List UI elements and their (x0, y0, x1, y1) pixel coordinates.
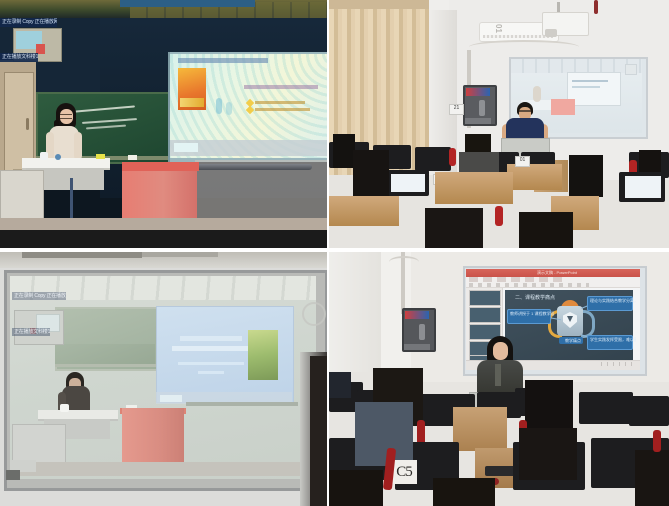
classroom-playback-scene: 正在录制 Copy 正在播放网... 正在播放文科楼106 (0, 0, 327, 248)
control-panel-base (465, 118, 491, 124)
student-seated-foreground (519, 212, 573, 250)
slide-taskbar-item (160, 395, 182, 402)
photo-panel-bottom-right[interactable]: 演示文稿 - PowerPoint 二、课程教学痛点 教师讲授于 1 课程教学设… (329, 252, 669, 506)
slide-figure (216, 98, 222, 114)
red-podium-top (122, 162, 199, 171)
student-seated (333, 134, 355, 168)
student-seated (519, 428, 577, 480)
slide-bullet-text (255, 101, 305, 104)
station-number-label: 21 (449, 104, 464, 115)
control-panel-display (405, 311, 429, 319)
student-seated (329, 372, 351, 398)
slide-title-text: 二、课程教学痛点 (515, 295, 555, 302)
door-knob-icon (26, 118, 29, 130)
student-seated-foreground (329, 470, 383, 506)
remote-feed-slide-line (572, 86, 600, 88)
remote-feed-slide-line (572, 80, 608, 82)
desk-item-cup (40, 152, 48, 160)
wall-outlet-icon (6, 470, 20, 480)
slide-figure (226, 102, 232, 115)
projector-lens-icon (545, 29, 557, 37)
wall-rail (196, 164, 312, 170)
glasses-icon (60, 114, 72, 119)
slide-callout-box: 学生实践发挥受限，难以形成持久应用能力 (587, 335, 633, 350)
wall-clock-icon (302, 302, 326, 326)
callout-text: 理论与实践结合教学分离，教学在场效果不佳 (588, 297, 636, 304)
remote-feed-icon (625, 64, 637, 75)
lab-monitor-screen (391, 174, 425, 192)
desk-item-book (96, 154, 105, 159)
headphone-hanger-icon (495, 206, 503, 226)
ceiling-pipe (594, 0, 598, 14)
remote-feed-screen (567, 72, 621, 106)
student-seated (355, 402, 413, 466)
center-badge-text: 教学痛点 (559, 337, 587, 344)
slide-thumbnail[interactable] (469, 290, 501, 306)
lectern-leg (70, 178, 73, 220)
wall-cable (469, 40, 579, 54)
chalk-rail (55, 364, 157, 367)
callout-text: 学生实践发挥受限，难以形成持久应用能力 (588, 336, 636, 343)
lab-presentation-scene: 演示文稿 - PowerPoint 二、课程教学痛点 教师讲授于 1 课程教学设… (329, 252, 669, 506)
student-seated (635, 450, 669, 506)
recording-status-label-bottom: 正在播放文科楼106 (0, 53, 38, 62)
glasses-icon (519, 110, 531, 112)
wall-rail (186, 402, 298, 406)
desk-item-bottle (55, 154, 61, 160)
presenter-face (493, 342, 508, 360)
photo-panel-top-left[interactable]: 正在录制 Copy 正在播放网... 正在播放文科楼106 (0, 0, 327, 248)
right-wall-shadow (310, 356, 327, 506)
student-seated (353, 150, 389, 200)
slide-title-text (178, 58, 268, 63)
slide-taskbar-item (174, 143, 198, 152)
red-podium (122, 408, 184, 466)
slide-body-text (244, 85, 318, 89)
ac-unit-label: 01 (494, 24, 503, 33)
control-panel-button[interactable] (419, 324, 425, 340)
slide-title-text (180, 336, 242, 341)
desk-item-paper (128, 155, 137, 160)
control-panel-display (466, 88, 490, 96)
slide-bullet-text (255, 108, 310, 111)
slide-presenter-text (198, 371, 224, 374)
ribbon-tabs[interactable] (469, 277, 565, 282)
powerpoint-title-text: 演示文稿 - PowerPoint (527, 269, 587, 277)
desk-item-cup (60, 404, 69, 412)
lab-monitor (415, 147, 451, 171)
ceiling-beam (142, 252, 218, 257)
slide-center-badge: 教学痛点 (559, 337, 583, 344)
lab-desk (435, 172, 513, 204)
slide-callout-box: 理论与实践结合教学分离，教学在场效果不佳 (587, 296, 633, 311)
control-panel-base (404, 344, 430, 350)
student-seated-foreground (425, 208, 483, 250)
slide-subtitle-text (172, 346, 256, 351)
textbook-footer-band (180, 98, 204, 107)
ribbon-icons[interactable] (469, 283, 589, 287)
grid-divider-horizontal (0, 248, 669, 252)
station-number-label: 01 (515, 156, 530, 167)
ceiling-band (120, 0, 255, 7)
headphone-hanger-icon (449, 148, 456, 166)
recording-status-label-bottom: 正在播放文科楼106 (12, 328, 50, 336)
student-seated-foreground (433, 478, 495, 506)
recording-status-label-top: 正在录制 Copy 正在播放网... (0, 18, 57, 27)
lab-desk (453, 407, 507, 451)
grid-divider-vertical (327, 0, 329, 506)
remote-feed-teacher (533, 86, 541, 102)
slide-callout-box: 教师讲授于 1 课程教学设计，学生学习兴趣偏低 (507, 309, 551, 324)
seat-number-label: C5 (391, 460, 417, 484)
lab-monitor-screen (625, 176, 661, 198)
slide-meta-text (178, 362, 244, 365)
remote-chalkboard-lower (55, 344, 155, 366)
lab-desk (329, 196, 399, 226)
recording-status-label-top: 正在录制 Copy 正在播放网... (12, 292, 66, 300)
teacher-arm-right (74, 132, 82, 160)
stage-platform (14, 462, 314, 476)
lab-desk (507, 164, 562, 190)
remote-feed-ceiling (511, 59, 642, 73)
floor-shadow (0, 230, 327, 248)
photo-panel-bottom-left[interactable]: 正在录制 Copy 正在播放网... 正在播放文科楼106 (0, 252, 327, 506)
lab-monitor (579, 392, 633, 424)
textbook-cover-image (248, 330, 278, 380)
control-panel-button[interactable] (479, 100, 485, 116)
zoom-slider[interactable] (601, 362, 633, 366)
callout-text: 教师讲授于 1 课程教学设计，学生学习兴趣偏低 (508, 310, 554, 317)
projected-lecture-scene: 正在录制 Copy 正在播放网... 正在播放文科楼106 (0, 252, 327, 506)
headphone-hanger-icon (653, 430, 661, 452)
lab-monitor (629, 396, 669, 426)
wall-cable (389, 256, 419, 268)
curtain-rail (329, 0, 429, 9)
remote-feed-podium (551, 99, 575, 115)
ceiling-beam (22, 252, 142, 258)
slide-thumbnail[interactable] (469, 307, 501, 323)
photo-collage: 正在录制 Copy 正在播放网... 正在播放文科楼106 01 (0, 0, 669, 506)
photo-panel-top-right[interactable]: 01 (329, 0, 669, 250)
student-seated (569, 155, 603, 197)
presenter-scarf (495, 364, 501, 386)
computer-lab-scene: 01 (329, 0, 669, 250)
